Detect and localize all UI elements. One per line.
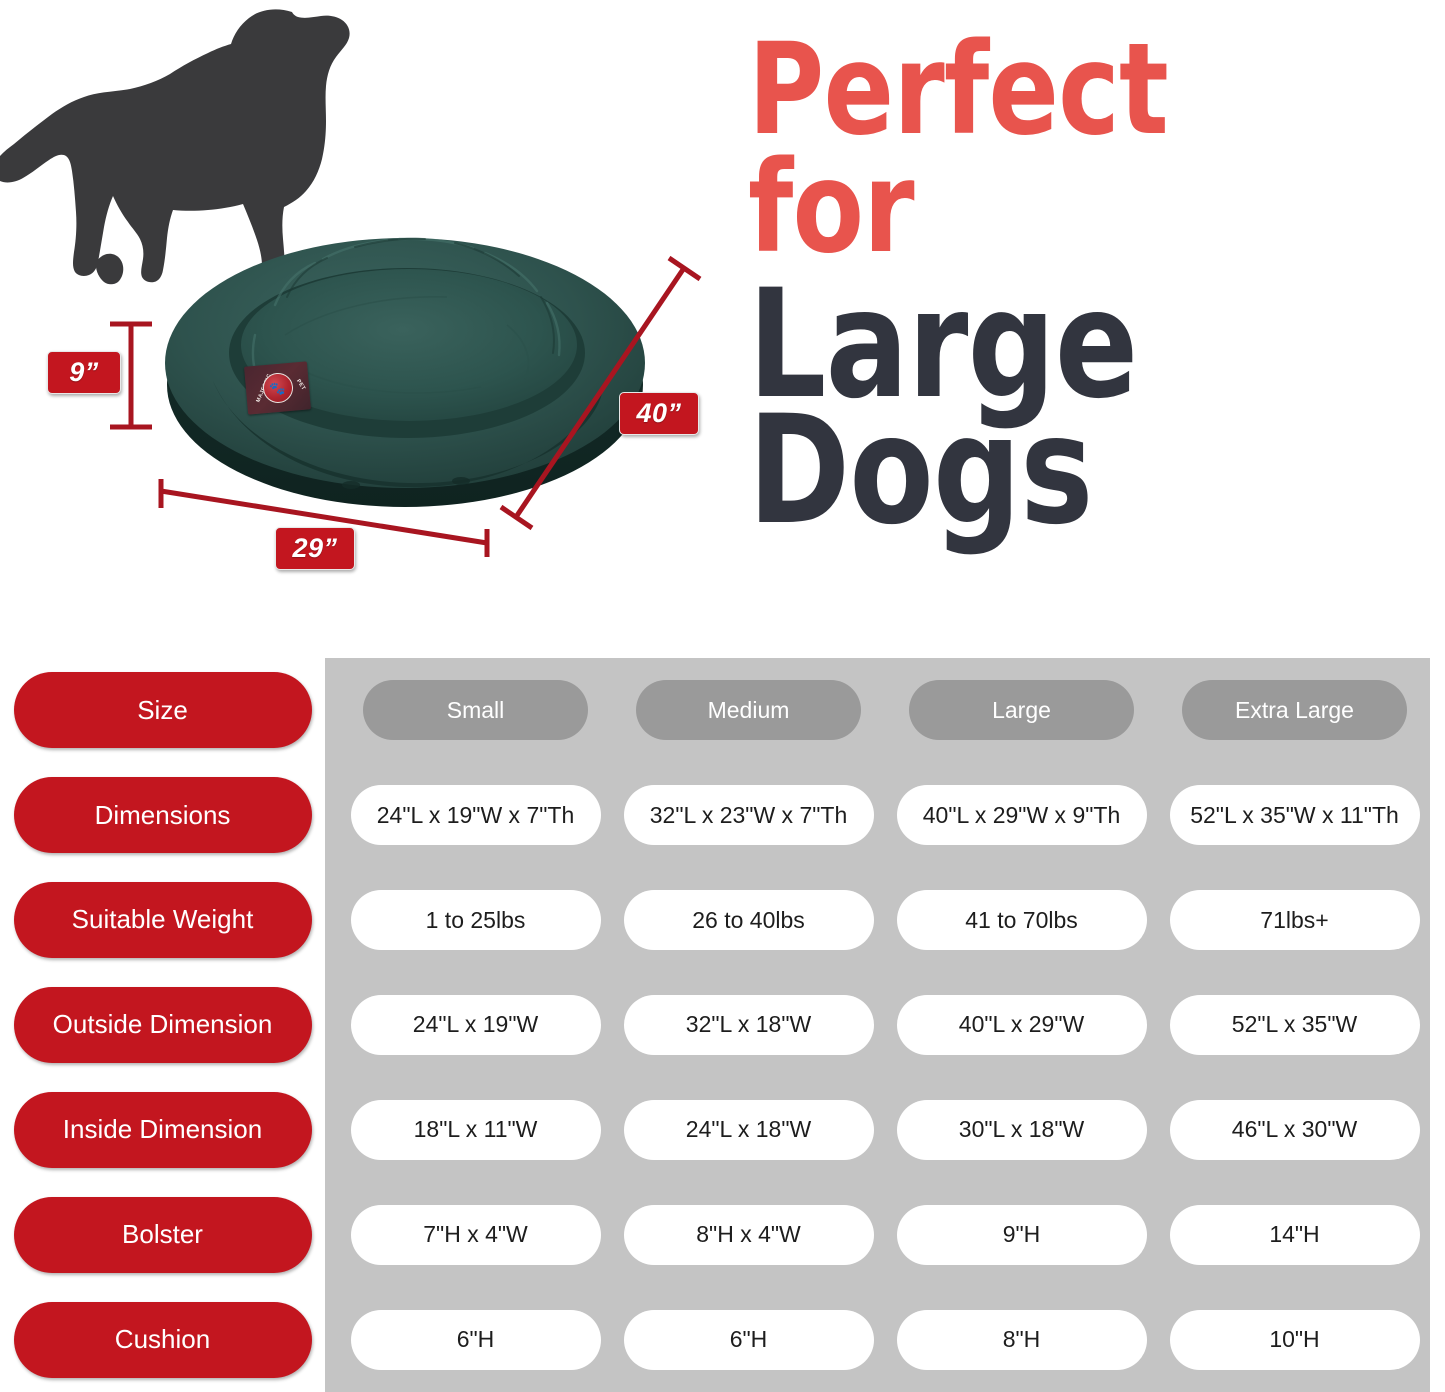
row-label-bolster: Bolster xyxy=(14,1197,312,1273)
row-label-cushion: Cushion xyxy=(14,1302,312,1378)
value-cell: 6"H xyxy=(339,1310,612,1370)
cell-small: 24"L x 19"W xyxy=(351,995,601,1055)
row-label-cell: Size xyxy=(0,658,325,763)
cell-large: 41 to 70lbs xyxy=(897,890,1147,950)
row-values: 6"H6"H8"H10"H xyxy=(325,1287,1445,1392)
value-cell: 24"L x 19"W xyxy=(339,995,612,1055)
value-cell: 32"L x 18"W xyxy=(612,995,885,1055)
dog-bed-product-image xyxy=(155,185,655,515)
row-label-size: Size xyxy=(14,672,312,748)
cell-extra-large: 52"L x 35"W xyxy=(1170,995,1420,1055)
value-cell: Extra Large xyxy=(1158,680,1431,740)
row-label-outside-dimension: Outside Dimension xyxy=(14,987,312,1063)
value-cell: Large xyxy=(885,680,1158,740)
row-values: 1 to 25lbs26 to 40lbs41 to 70lbs71lbs+ xyxy=(325,868,1445,973)
cell-extra-large: 14"H xyxy=(1170,1205,1420,1265)
row-label-suitable-weight: Suitable Weight xyxy=(14,882,312,958)
value-cell: 14"H xyxy=(1158,1205,1431,1265)
majestic-pet-logo-patch: MAJESTIC PET 🐾 xyxy=(244,361,311,414)
cell-extra-large: 46"L x 30"W xyxy=(1170,1100,1420,1160)
value-cell: 9"H xyxy=(885,1205,1158,1265)
cell-large: 9"H xyxy=(897,1205,1147,1265)
value-cell: 26 to 40lbs xyxy=(612,890,885,950)
row-label-cell: Outside Dimension xyxy=(0,973,325,1078)
value-cell: 71lbs+ xyxy=(1158,890,1431,950)
bed-illustration xyxy=(155,185,655,515)
hero-section: MAJESTIC PET 🐾 9” 29” 40” Perfect for La… xyxy=(0,0,1445,658)
column-header-small[interactable]: Small xyxy=(363,680,588,740)
hero-headline: Perfect for Large Dogs xyxy=(748,30,1438,541)
cell-large: 40"L x 29"W xyxy=(897,995,1147,1055)
paw-print-icon: 🐾 xyxy=(261,372,294,405)
value-cell: 8"H x 4"W xyxy=(612,1205,885,1265)
value-cell: Medium xyxy=(612,680,885,740)
cell-extra-large: 71lbs+ xyxy=(1170,890,1420,950)
row-label-cell: Cushion xyxy=(0,1287,325,1392)
value-cell: 18"L x 11"W xyxy=(339,1100,612,1160)
value-cell: 46"L x 30"W xyxy=(1158,1100,1431,1160)
cell-small: 7"H x 4"W xyxy=(351,1205,601,1265)
row-label-dimensions: Dimensions xyxy=(14,777,312,853)
column-header-extra-large[interactable]: Extra Large xyxy=(1182,680,1407,740)
cell-large: 30"L x 18"W xyxy=(897,1100,1147,1160)
height-callout-badge: 9” xyxy=(47,351,121,394)
row-values: 24"L x 19"W x 7"Th32"L x 23"W x 7"Th40"L… xyxy=(325,763,1445,868)
cell-medium: 26 to 40lbs xyxy=(624,890,874,950)
cell-small: 6"H xyxy=(351,1310,601,1370)
value-cell: 52"L x 35"W xyxy=(1158,995,1431,1055)
size-specification-table: SizeSmallMediumLargeExtra LargeDimension… xyxy=(0,658,1445,1392)
value-cell: 24"L x 19"W x 7"Th xyxy=(339,785,612,845)
headline-line-1: Perfect for xyxy=(748,30,1314,266)
headline-line-3: Dogs xyxy=(748,402,1314,542)
row-values: 7"H x 4"W8"H x 4"W9"H14"H xyxy=(325,1182,1445,1287)
row-values: 24"L x 19"W32"L x 18"W40"L x 29"W52"L x … xyxy=(325,973,1445,1078)
column-header-medium[interactable]: Medium xyxy=(636,680,861,740)
value-cell: 6"H xyxy=(612,1310,885,1370)
row-label-cell: Suitable Weight xyxy=(0,868,325,973)
row-label-cell: Inside Dimension xyxy=(0,1077,325,1182)
value-cell: 40"L x 29"W x 9"Th xyxy=(885,785,1158,845)
row-label-cell: Bolster xyxy=(0,1182,325,1287)
cell-small: 18"L x 11"W xyxy=(351,1100,601,1160)
value-cell: 30"L x 18"W xyxy=(885,1100,1158,1160)
row-values: SmallMediumLargeExtra Large xyxy=(325,658,1445,763)
cell-medium: 8"H x 4"W xyxy=(624,1205,874,1265)
row-label-cell: Dimensions xyxy=(0,763,325,868)
column-header-large[interactable]: Large xyxy=(909,680,1134,740)
value-cell: 8"H xyxy=(885,1310,1158,1370)
depth-callout-badge: 40” xyxy=(619,392,699,435)
logo-text-right: PET xyxy=(295,378,306,391)
cell-medium: 6"H xyxy=(624,1310,874,1370)
value-cell: 40"L x 29"W xyxy=(885,995,1158,1055)
cell-large: 40"L x 29"W x 9"Th xyxy=(897,785,1147,845)
cell-small: 24"L x 19"W x 7"Th xyxy=(351,785,601,845)
value-cell: 1 to 25lbs xyxy=(339,890,612,950)
cell-small: 1 to 25lbs xyxy=(351,890,601,950)
width-callout-badge: 29” xyxy=(275,527,355,570)
value-cell: 52"L x 35"W x 11"Th xyxy=(1158,785,1431,845)
cell-medium: 24"L x 18"W xyxy=(624,1100,874,1160)
row-values: 18"L x 11"W24"L x 18"W30"L x 18"W46"L x … xyxy=(325,1077,1445,1182)
table-grid: SizeSmallMediumLargeExtra LargeDimension… xyxy=(0,658,1445,1392)
value-cell: 32"L x 23"W x 7"Th xyxy=(612,785,885,845)
value-cell: 41 to 70lbs xyxy=(885,890,1158,950)
cell-extra-large: 10"H xyxy=(1170,1310,1420,1370)
value-cell: 7"H x 4"W xyxy=(339,1205,612,1265)
cell-extra-large: 52"L x 35"W x 11"Th xyxy=(1170,785,1420,845)
value-cell: 10"H xyxy=(1158,1310,1431,1370)
cell-medium: 32"L x 18"W xyxy=(624,995,874,1055)
row-label-inside-dimension: Inside Dimension xyxy=(14,1092,312,1168)
cell-large: 8"H xyxy=(897,1310,1147,1370)
value-cell: Small xyxy=(339,680,612,740)
value-cell: 24"L x 18"W xyxy=(612,1100,885,1160)
cell-medium: 32"L x 23"W x 7"Th xyxy=(624,785,874,845)
